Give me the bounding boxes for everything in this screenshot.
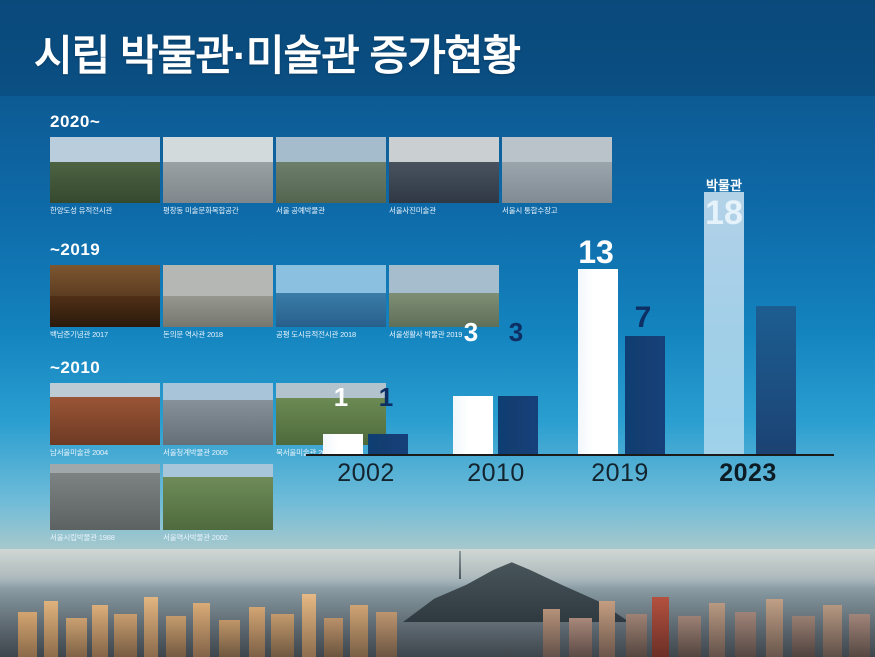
- bar-value-2010-museum: 3: [448, 319, 494, 345]
- photo-thumbnail[interactable]: [163, 383, 273, 445]
- photo-thumbnail[interactable]: [50, 265, 160, 327]
- photo-thumbnail[interactable]: [50, 464, 160, 530]
- photo-caption: 남서울미술관 2004: [50, 448, 160, 458]
- photo-caption: 돈의문 역사관 2018: [163, 330, 273, 340]
- page-title: 시립 박물관·미술관 증가현황: [34, 22, 520, 83]
- bar-value-2002-art: 1: [363, 384, 409, 410]
- photo-thumbnail[interactable]: [163, 137, 273, 203]
- n-seoul-tower-icon: [459, 551, 461, 579]
- photo-item[interactable]: 서울역사박물관 2002: [163, 464, 273, 543]
- bar-2002-museum[interactable]: [323, 434, 363, 454]
- bar-2010-art[interactable]: [498, 396, 538, 454]
- photo-caption: 서울역사박물관 2002: [163, 533, 273, 543]
- x-tick-2023: 2023: [698, 459, 798, 488]
- bar-2010-museum[interactable]: [453, 396, 493, 454]
- photo-thumbnail[interactable]: [50, 137, 160, 203]
- chart-baseline: [306, 454, 834, 456]
- bar-value-2019-art: 7: [620, 303, 666, 333]
- x-tick-2002: 2002: [318, 459, 414, 488]
- x-tick-2019: 2019: [572, 459, 668, 488]
- seoul-skyline-photo: [0, 549, 875, 657]
- photo-item[interactable]: 한양도성 유적전시관: [50, 137, 160, 216]
- bar-2023-art[interactable]: [756, 306, 796, 454]
- skyline-haze: [0, 549, 875, 588]
- bar-2019-art[interactable]: [625, 336, 665, 454]
- photo-thumbnail[interactable]: [163, 464, 273, 530]
- photo-caption: 백남준기념관 2017: [50, 330, 160, 340]
- photo-caption: 한양도성 유적전시관: [50, 206, 160, 216]
- legend-museum: 박물관: [696, 179, 752, 192]
- photo-caption: 서울시립박물관 1988: [50, 533, 160, 543]
- x-tick-2010: 2010: [448, 459, 544, 488]
- bar-2019-museum[interactable]: [578, 269, 618, 454]
- photo-item[interactable]: 서울청계박물관 2005: [163, 383, 273, 458]
- photo-thumbnail[interactable]: [50, 383, 160, 445]
- bar-chart: 1 1 2002 3 3 2010 13 7 2019 박물관 18 미술관 1…: [300, 110, 845, 560]
- infographic-canvas: 시립 박물관·미술관 증가현황 2020~ 한양도성 유적전시관 평창동 미술문…: [0, 0, 875, 657]
- photo-item[interactable]: 평창동 미술문화복합공간: [163, 137, 273, 216]
- photo-caption: 평창동 미술문화복합공간: [163, 206, 273, 216]
- bar-2002-art[interactable]: [368, 434, 408, 454]
- photo-caption: 서울청계박물관 2005: [163, 448, 273, 458]
- photo-item[interactable]: 백남준기념관 2017: [50, 265, 160, 340]
- bar-value-2002-museum: 1: [318, 384, 364, 410]
- bar-value-2010-art: 3: [493, 319, 539, 345]
- photo-item[interactable]: 돈의문 역사관 2018: [163, 265, 273, 340]
- bar-value-2019-museum: 13: [572, 236, 620, 268]
- photo-item[interactable]: 남서울미술관 2004: [50, 383, 160, 458]
- photo-item[interactable]: 서울시립박물관 1988: [50, 464, 160, 543]
- photo-thumbnail[interactable]: [163, 265, 273, 327]
- bar-2023-museum[interactable]: [704, 192, 744, 454]
